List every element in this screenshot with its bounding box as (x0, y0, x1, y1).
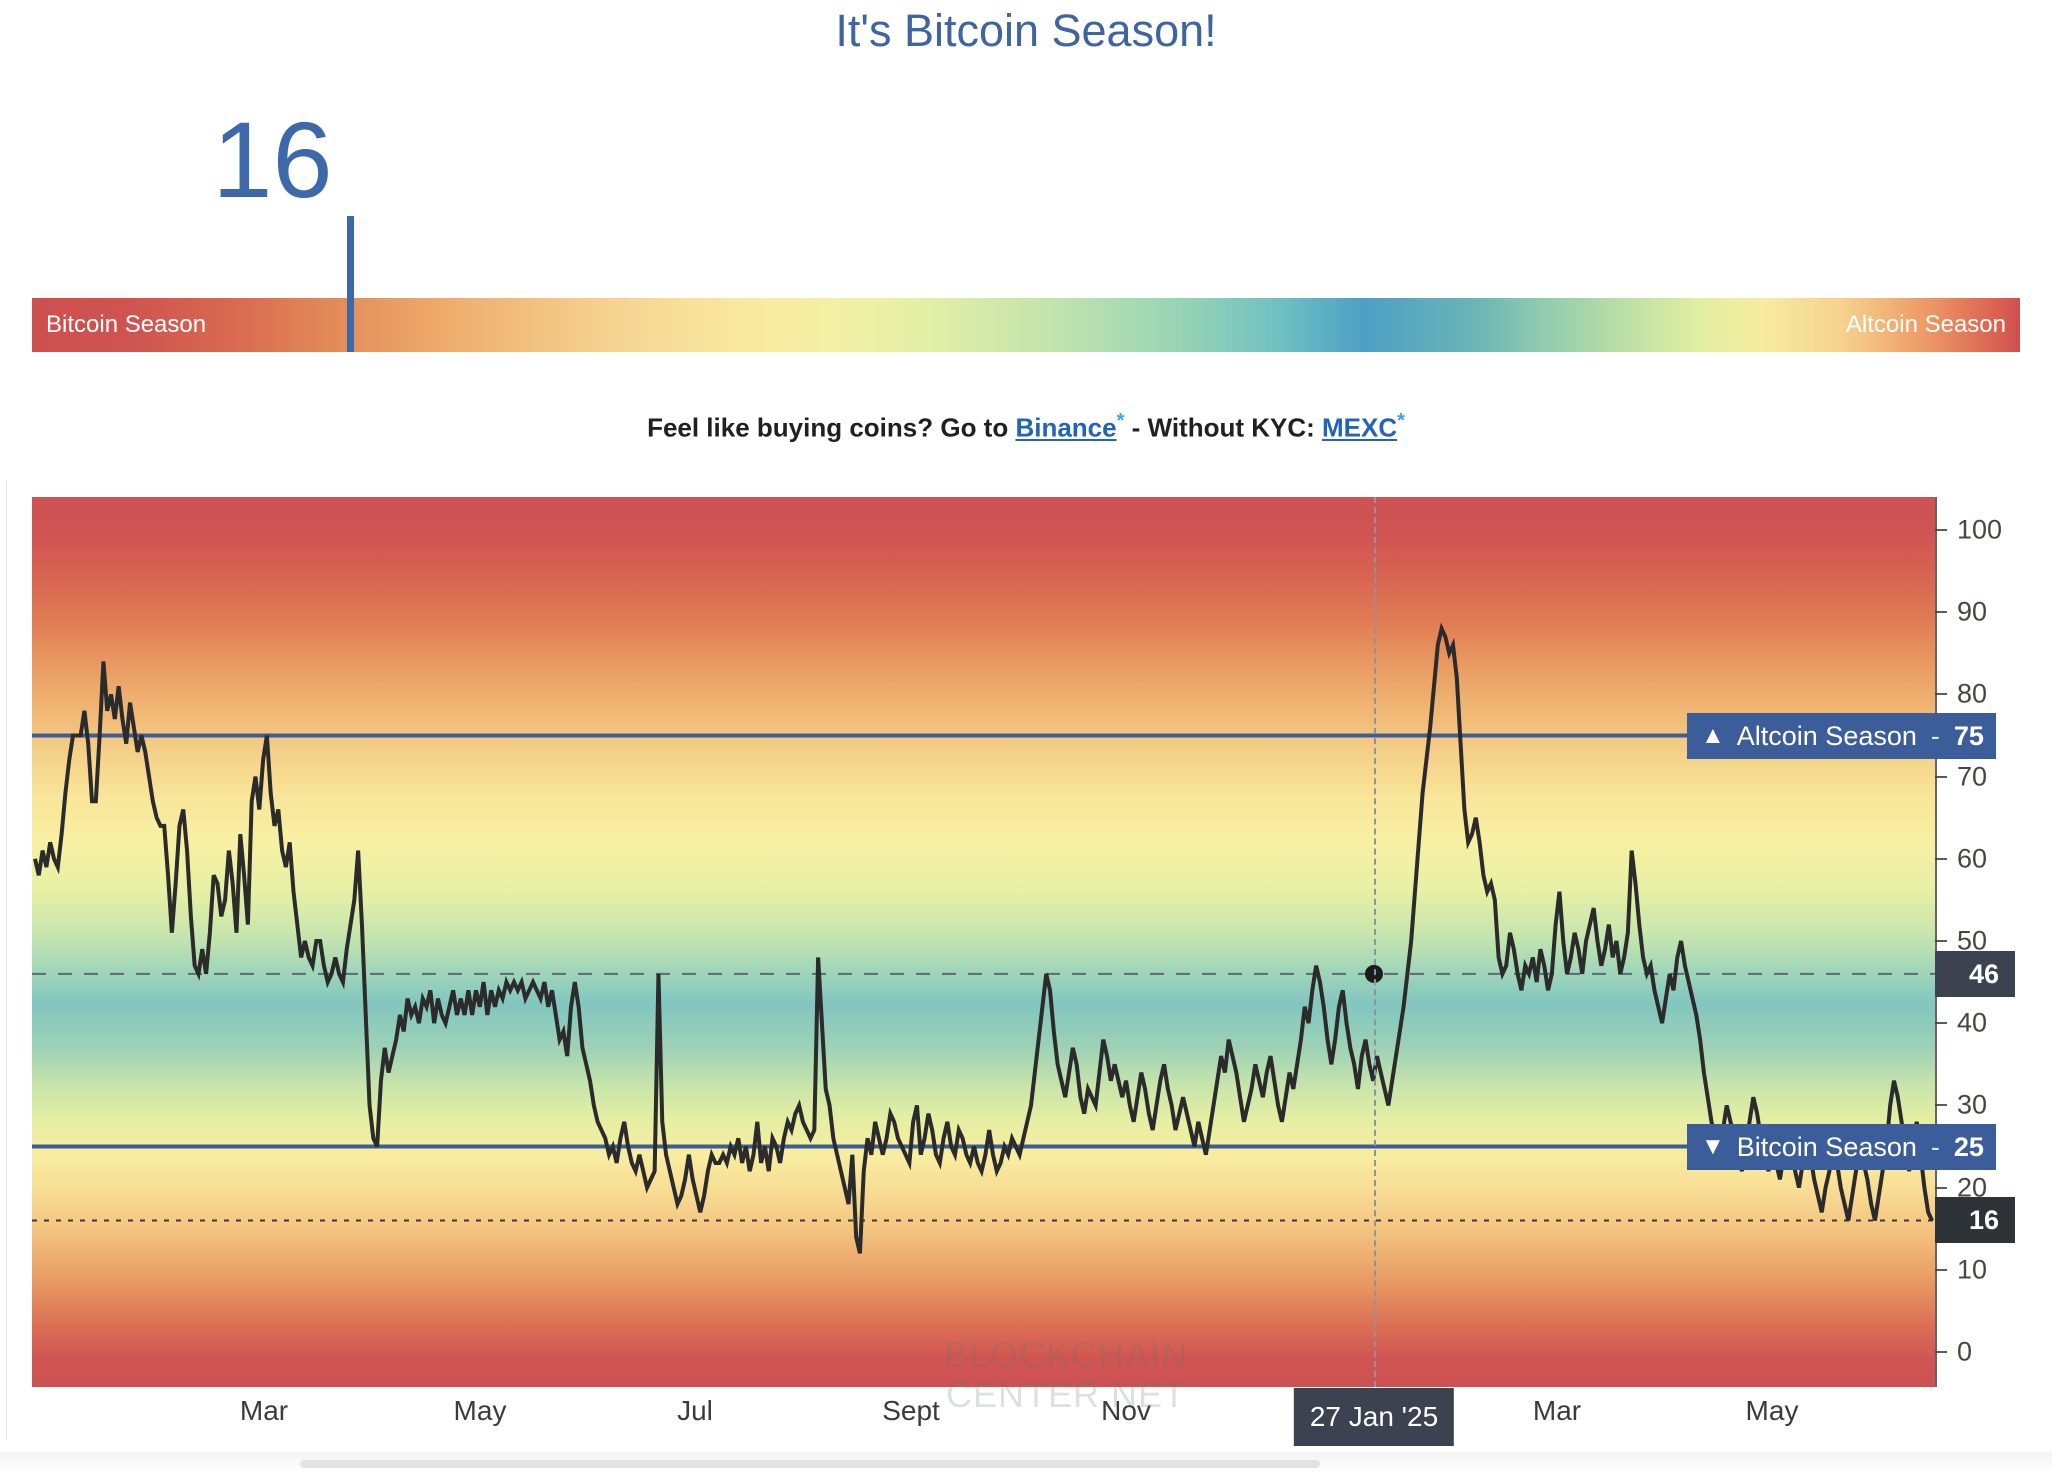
y-axis-tick-label: 60 (1957, 843, 1987, 874)
y-axis-tick (1935, 1104, 1947, 1106)
altcoin-threshold-label: Altcoin Season (1737, 713, 1917, 759)
altcoin-threshold-value: 75 (1954, 713, 1984, 759)
mexc-affiliate-star: * (1397, 410, 1405, 432)
x-axis-tick-label: Mar (240, 1395, 288, 1427)
y-axis-tick-label: 40 (1957, 1008, 1987, 1039)
bitcoin-season-page: It's Bitcoin Season! 16 Bitcoin Season A… (0, 0, 2052, 1474)
y-axis-tick (1935, 693, 1947, 695)
y-axis-tick (1935, 1022, 1947, 1024)
altcoin-season-chart[interactable]: BLOCKCHAINCENTER.NET 0102030405060708090… (32, 497, 2020, 1387)
y-axis-tick (1935, 611, 1947, 613)
y-axis-tick (1935, 858, 1947, 860)
binance-link[interactable]: Binance (1015, 413, 1116, 443)
bitcoin-threshold-dash: - (1931, 1124, 1940, 1170)
promo-text-mid: - Without KYC: (1124, 413, 1322, 443)
triangle-up-icon: ▲ (1701, 724, 1725, 748)
y-axis-tick (1935, 529, 1947, 531)
y-axis-tick-label: 0 (1957, 1337, 1972, 1368)
x-axis-tick-label: May (454, 1395, 507, 1427)
y-axis-tick (1935, 1269, 1947, 1271)
y-axis-tick-label: 80 (1957, 679, 1987, 710)
promo-text-before: Feel like buying coins? Go to (647, 413, 1015, 443)
y-axis-tick (1935, 940, 1947, 942)
triangle-down-icon: ▼ (1701, 1135, 1725, 1159)
y-axis-tick-label: 90 (1957, 597, 1987, 628)
y-axis-tick-label: 10 (1957, 1254, 1987, 1285)
x-axis: MarMayJulSeptNov2025MarMay (0, 1395, 2052, 1445)
bitcoin-threshold-label: Bitcoin Season (1737, 1124, 1917, 1170)
bitcoin-threshold-value: 25 (1954, 1124, 1984, 1170)
x-axis-tick-label: Nov (1101, 1395, 1151, 1427)
crosshair-value-pill: 46 (1935, 951, 2015, 997)
chart-line-svg (32, 497, 1935, 1387)
altcoin-threshold-dash: - (1931, 713, 1940, 759)
y-axis-tick-label: 100 (1957, 515, 2002, 546)
y-axis-tick-label: 30 (1957, 1090, 1987, 1121)
x-axis-tick-label: Sept (882, 1395, 940, 1427)
y-axis-tick-label: 70 (1957, 761, 1987, 792)
index-value: 16 (0, 104, 545, 216)
y-axis-tick (1935, 1351, 1947, 1353)
promo-line: Feel like buying coins? Go to Binance* -… (0, 410, 2052, 444)
x-axis-tick-label: Jul (677, 1395, 713, 1427)
current-value-pill: 16 (1935, 1197, 2015, 1243)
gauge-gradient-bar (32, 298, 2020, 352)
y-axis-line (1935, 497, 1937, 1387)
page-left-rule (6, 480, 7, 1440)
horizontal-scrollbar-thumb[interactable] (300, 1460, 1320, 1468)
mexc-link[interactable]: MEXC (1322, 413, 1397, 443)
gauge-needle (347, 216, 354, 352)
page-title: It's Bitcoin Season! (0, 5, 2052, 57)
gauge-label-altcoin-season: Altcoin Season (1846, 298, 2006, 352)
x-axis-tick-label: May (1746, 1395, 1799, 1427)
y-axis-tick (1935, 1187, 1947, 1189)
gauge-label-bitcoin-season: Bitcoin Season (46, 298, 206, 352)
season-gauge: Bitcoin Season Altcoin Season (32, 298, 2020, 352)
crosshair-vertical-line (1374, 497, 1376, 1387)
price-line (35, 629, 1932, 1254)
altcoin-season-threshold-badge[interactable]: ▲ Altcoin Season - 75 (1687, 713, 1996, 759)
y-axis: 0102030405060708090100 (1935, 497, 2020, 1387)
x-axis-tick-label: Mar (1533, 1395, 1581, 1427)
y-axis-tick (1935, 776, 1947, 778)
chart-plot-area[interactable] (32, 497, 1935, 1387)
bitcoin-season-threshold-badge[interactable]: ▼ Bitcoin Season - 25 (1687, 1124, 1996, 1170)
crosshair-date-tooltip: 27 Jan '25 (1294, 1388, 1454, 1446)
